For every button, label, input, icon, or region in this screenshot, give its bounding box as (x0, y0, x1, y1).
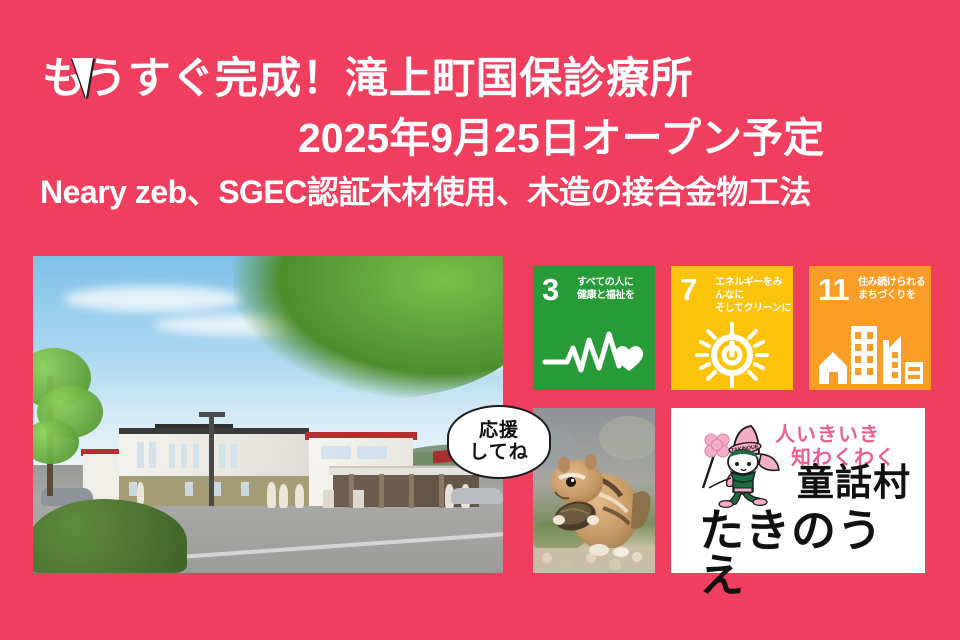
window (213, 482, 221, 496)
speech-bubble: 応援 してね (447, 405, 551, 479)
headline-block: もうすぐ完成！滝上町国保診療所 2025年9月25日オープン予定 Neary z… (0, 55, 960, 211)
sdg-number: 11 (818, 274, 849, 305)
sun-power-icon (671, 318, 793, 390)
town-logo-inner: TAKINOUE 人いきいき 知わくわく 童話村 たきのうえ (679, 416, 917, 565)
sdg-number: 7 (680, 274, 696, 305)
parked-car (451, 488, 503, 504)
clinic-rendering-image (33, 256, 503, 573)
overhanging-branch (233, 256, 503, 400)
canopy-column (379, 474, 384, 508)
logo-bottom-text: たきのうえ (699, 508, 917, 598)
window (129, 482, 137, 496)
speech-bubble-line-2: してね (469, 442, 528, 464)
window (193, 444, 199, 468)
headline-line-3: Neary zeb、SGEC認証木材使用、木造の接合金物工法 (0, 173, 960, 211)
window (219, 444, 225, 468)
chipmunk-photo (533, 408, 655, 573)
speech-bubble-text: 応援 してね (449, 407, 549, 477)
sdg-badge-3[interactable]: 3 すべての人に 健康と福祉を (533, 266, 655, 390)
sdg-number: 3 (542, 274, 558, 305)
clinic-rendering-artwork (33, 256, 503, 573)
canopy-column (439, 474, 444, 508)
speech-bubble-line-1: 応援 (479, 420, 519, 442)
window (169, 444, 175, 468)
figure (295, 484, 304, 508)
sdg-label: エネルギーをみんなに そしてクリーンに (715, 277, 791, 315)
speech-bubble-tail (72, 58, 93, 98)
town-logo: TAKINOUE 人いきいき 知わくわく 童話村 たきのうえ (671, 408, 925, 573)
window (357, 446, 387, 459)
chipmunk-photo-artwork (533, 408, 655, 573)
light-pole (209, 414, 214, 506)
window (321, 446, 351, 459)
figure (279, 484, 288, 508)
headline-line-1: もうすぐ完成！滝上町国保診療所 (0, 55, 960, 104)
window (231, 444, 237, 468)
sdg-label: 住み続けられる まちづくりを (858, 277, 930, 303)
window (149, 442, 156, 468)
sdg-badge-11[interactable]: 11 住み続けられる まちづくりを (809, 266, 931, 390)
canopy-column (409, 474, 414, 508)
sdg-badge-7[interactable]: 7 エネルギーをみんなに そしてクリーンに (671, 266, 793, 390)
bollard (323, 490, 334, 508)
sdg-badge-row: 3 すべての人に 健康と福祉を 7 エネルギーをみんなに そしてクリーンに (533, 266, 931, 390)
figure (137, 482, 144, 504)
window (185, 482, 193, 496)
headline-line-2: 2025年9月25日オープン予定 (0, 114, 960, 163)
window (137, 442, 144, 468)
heartbeat-icon (533, 318, 655, 390)
bollard (353, 490, 364, 508)
cloud (63, 286, 243, 312)
window (181, 444, 187, 468)
logo-middle-text: 童話村 (797, 464, 911, 501)
cityscape-icon (809, 318, 931, 390)
window (241, 482, 249, 496)
figure (267, 482, 276, 508)
sdg-label: すべての人に 健康と福祉を (577, 277, 653, 303)
